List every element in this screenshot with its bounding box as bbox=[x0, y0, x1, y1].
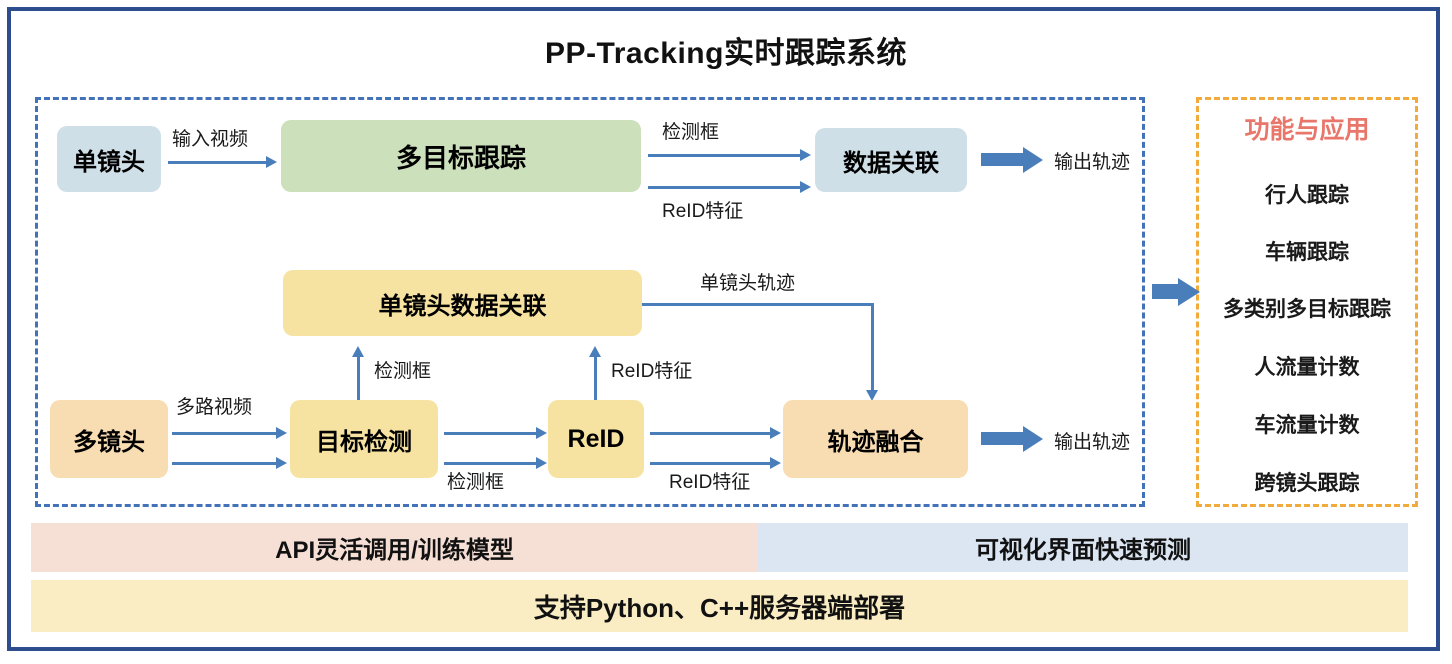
label-single-camera-trajectory: 单镜头轨迹 bbox=[700, 268, 795, 295]
arrowhead-tracking-reid bbox=[800, 181, 811, 193]
box-object-detection[interactable]: 目标检测 bbox=[290, 400, 438, 478]
label-output-trajectory-top: 输出轨迹 bbox=[1054, 147, 1130, 174]
arrowhead-multicam-to-detect-2 bbox=[276, 457, 287, 469]
label-detection-box-top: 检测框 bbox=[662, 117, 719, 144]
application-item-3: 人流量计数 bbox=[1196, 351, 1418, 381]
label-input-video: 输入视频 bbox=[172, 124, 248, 151]
label-reid-feature-top: ReID特征 bbox=[662, 196, 743, 223]
arrow-detect-to-reid-1 bbox=[444, 432, 536, 435]
label-reid-feature-up: ReID特征 bbox=[611, 356, 692, 383]
box-single-camera[interactable]: 单镜头 bbox=[57, 126, 161, 192]
label-detection-box-up: 检测框 bbox=[374, 356, 431, 383]
box-reid[interactable]: ReID bbox=[548, 400, 644, 478]
arrow-reid-to-fusion-2 bbox=[650, 462, 770, 465]
application-item-1: 车辆跟踪 bbox=[1196, 236, 1418, 266]
arrow-reid-up bbox=[594, 356, 597, 404]
box-multi-camera[interactable]: 多镜头 bbox=[50, 400, 168, 478]
arrowhead-detect-to-reid-2 bbox=[536, 457, 547, 469]
arrow-detection-up bbox=[357, 356, 360, 404]
arrowhead-detection-up bbox=[352, 346, 364, 357]
arrow-detect-to-reid-2 bbox=[444, 462, 536, 465]
box-multi-object-tracking[interactable]: 多目标跟踪 bbox=[281, 120, 641, 192]
label-reid-feature-bottom: ReID特征 bbox=[669, 467, 750, 494]
diagram-root: PP-Tracking实时跟踪系统 单镜头 输入视频 多目标跟踪 检测框 ReI… bbox=[0, 0, 1452, 664]
arrow-multicam-to-detect-2 bbox=[172, 462, 276, 465]
label-output-trajectory-bottom: 输出轨迹 bbox=[1054, 427, 1130, 454]
footer-bar-visualization[interactable]: 可视化界面快速预测 bbox=[758, 523, 1408, 572]
box-single-camera-association[interactable]: 单镜头数据关联 bbox=[283, 270, 642, 336]
arrowhead-multicam-to-detect-1 bbox=[276, 427, 287, 439]
label-detection-box-bottom: 检测框 bbox=[447, 467, 504, 494]
application-item-4: 车流量计数 bbox=[1196, 409, 1418, 439]
arrow-tracking-detection bbox=[648, 154, 800, 157]
page-title: PP-Tracking实时跟踪系统 bbox=[0, 28, 1452, 72]
arrow-trajectory-vertical bbox=[871, 303, 874, 391]
footer-bar-deployment[interactable]: 支持Python、C++服务器端部署 bbox=[31, 580, 1408, 632]
arrowhead-tracking-detection bbox=[800, 149, 811, 161]
arrow-single-to-tracking bbox=[168, 161, 266, 164]
arrowhead-reid-to-fusion-2 bbox=[770, 457, 781, 469]
arrow-reid-to-fusion-1 bbox=[650, 432, 770, 435]
arrow-tracking-reid bbox=[648, 186, 800, 189]
application-item-0: 行人跟踪 bbox=[1196, 179, 1418, 209]
applications-title: 功能与应用 bbox=[1196, 110, 1418, 146]
box-data-association[interactable]: 数据关联 bbox=[815, 128, 967, 192]
arrowhead-single-to-tracking bbox=[266, 156, 277, 168]
arrowhead-detect-to-reid-1 bbox=[536, 427, 547, 439]
arrowhead-reid-to-fusion-1 bbox=[770, 427, 781, 439]
box-trajectory-fusion[interactable]: 轨迹融合 bbox=[783, 400, 968, 478]
arrowhead-reid-up bbox=[589, 346, 601, 357]
footer-bar-api[interactable]: API灵活调用/训练模型 bbox=[31, 523, 758, 572]
arrow-multicam-to-detect-1 bbox=[172, 432, 276, 435]
application-item-2: 多类别多目标跟踪 bbox=[1196, 293, 1418, 323]
application-item-5: 跨镜头跟踪 bbox=[1196, 467, 1418, 497]
label-multi-video: 多路视频 bbox=[176, 392, 252, 419]
arrow-trajectory-horizontal bbox=[642, 303, 874, 306]
